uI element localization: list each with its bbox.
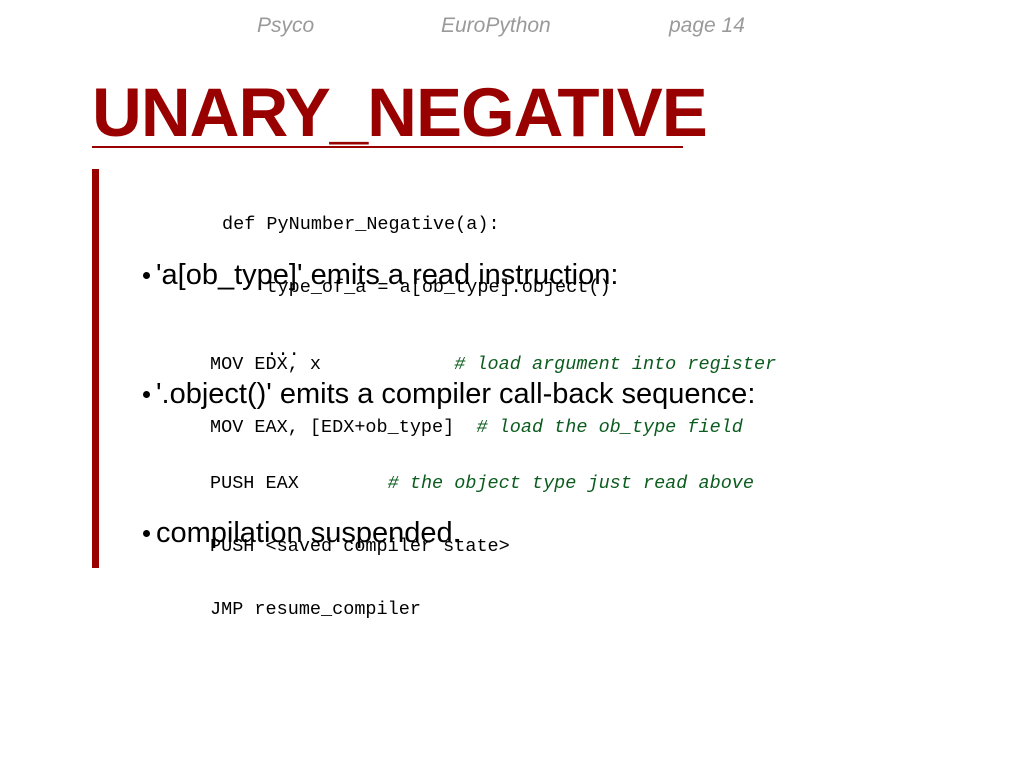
bullet-label: '.object()' emits a compiler call-back s… xyxy=(156,378,755,411)
bullet-dot-icon xyxy=(143,272,150,279)
bullet-item-compilation-suspended: compilation suspended. xyxy=(143,517,461,550)
assembly-line-push-eax-comment: # the object type just read above xyxy=(388,473,754,494)
bullet-item-read-instruction: 'a[ob_type]' emits a read instruction: xyxy=(143,259,618,292)
bullet-dot-icon xyxy=(143,391,150,398)
assembly-line-jmp-resume: JMP resume_compiler xyxy=(210,599,754,620)
bullet-item-callback-sequence: '.object()' emits a compiler call-back s… xyxy=(143,378,755,411)
bullet-label: 'a[ob_type]' emits a read instruction: xyxy=(156,259,618,292)
bullet-label: compilation suspended. xyxy=(156,517,461,550)
assembly-line-push-eax: PUSH EAX # the object type just read abo… xyxy=(210,473,754,494)
assembly-line-mov-edx-comment: # load argument into register xyxy=(454,354,776,375)
assembly-line-mov-edx: MOV EDX, x # load argument into register xyxy=(210,354,776,375)
assembly-line-push-eax-code: PUSH EAX xyxy=(210,473,388,494)
bullet-dot-icon xyxy=(143,530,150,537)
python-code-line-1: def PyNumber_Negative(a): xyxy=(222,214,611,235)
slide-body: def PyNumber_Negative(a): type_of_a = a[… xyxy=(0,0,1024,768)
assembly-line-mov-edx-code: MOV EDX, x xyxy=(210,354,454,375)
